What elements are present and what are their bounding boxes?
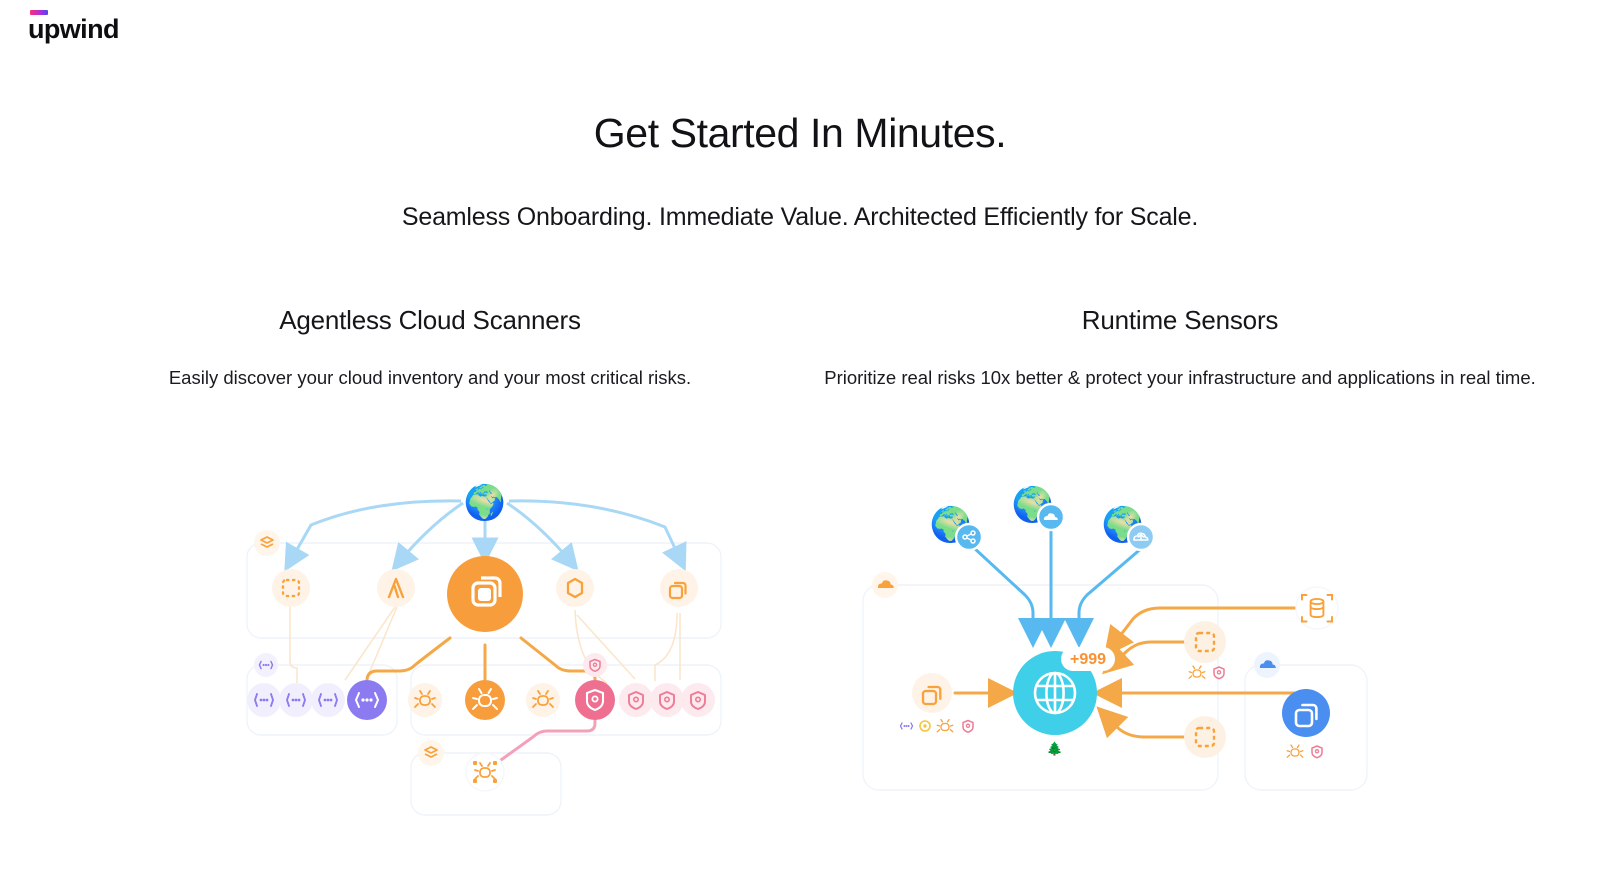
hub-badge-count: +999 — [1061, 647, 1115, 671]
hub-badge-label: +999 — [1070, 651, 1106, 668]
node-copy-left[interactable] — [912, 673, 952, 713]
globe-source-node[interactable]: 🌍 — [464, 483, 506, 522]
column-description: Prioritize real risks 10x better & prote… — [824, 365, 1536, 392]
badge-shield-panel — [583, 653, 607, 677]
node-shield-active[interactable] — [575, 680, 615, 720]
page-root: upwind Get Started In Minutes. Seamless … — [0, 0, 1600, 895]
node-cluster-1[interactable] — [247, 683, 281, 717]
hub-sub-tree-icon: 🌲 — [1047, 741, 1063, 756]
badge-layers-scan — [418, 740, 444, 766]
page-subtitle: Seamless Onboarding. Immediate Value. Ar… — [0, 203, 1600, 232]
diagrams-section: 🌍 — [0, 465, 1600, 825]
globe-node-share[interactable]: 🌍 — [930, 505, 982, 550]
svg-text:🌲: 🌲 — [1047, 741, 1063, 756]
columns-section: Agentless Cloud Scanners Easily discover… — [0, 305, 1600, 392]
node-hexagon[interactable] — [556, 569, 594, 607]
node-cluster-2[interactable] — [279, 683, 313, 717]
node-bug-active[interactable] — [465, 680, 505, 720]
badge-cloud-orange — [872, 572, 898, 598]
hero-section: Get Started In Minutes. Seamless Onboard… — [0, 110, 1600, 232]
column-title: Runtime Sensors — [1082, 305, 1278, 336]
column-description: Easily discover your cloud inventory and… — [169, 365, 691, 392]
badge-cluster-panel — [254, 653, 278, 677]
column-runtime-sensors: Runtime Sensors Prioritize real risks 10… — [800, 305, 1600, 392]
node-copy-side[interactable] — [1282, 689, 1330, 737]
node-cluster-3[interactable] — [311, 683, 345, 717]
node-lambda[interactable] — [377, 569, 415, 607]
brand-wordmark: upwind — [28, 16, 119, 43]
hub-node-copy[interactable] — [447, 556, 523, 632]
node-shield-2[interactable] — [619, 683, 653, 717]
runtime-sensors-diagram: 🌍 🌍 🌍 — [855, 465, 1375, 825]
badge-layers-compute — [254, 530, 280, 556]
column-title: Agentless Cloud Scanners — [279, 305, 581, 336]
agentless-cloud-scanners-diagram: 🌍 — [225, 465, 745, 825]
node-cluster-active[interactable] — [347, 680, 387, 720]
column-agentless-cloud-scanners: Agentless Cloud Scanners Easily discover… — [0, 305, 800, 392]
svg-text:🌍: 🌍 — [464, 483, 506, 522]
node-database-scan[interactable] — [1296, 587, 1338, 629]
node-copy-top[interactable] — [660, 569, 698, 607]
node-shield-3[interactable] — [650, 683, 684, 717]
node-shield-4[interactable] — [681, 683, 715, 717]
node-container-dashed-bottom[interactable] — [1184, 716, 1226, 758]
page-title: Get Started In Minutes. — [0, 110, 1600, 157]
badge-cloud-blue — [1254, 652, 1280, 678]
globe-node-cloud-upload[interactable]: 🌍 — [1102, 505, 1154, 550]
brand-logo[interactable]: upwind — [28, 10, 119, 43]
node-container-dashed[interactable] — [272, 569, 310, 607]
node-container-dashed-top[interactable] — [1184, 621, 1226, 663]
globe-node-cloud[interactable]: 🌍 — [1012, 485, 1064, 530]
node-bug-1[interactable] — [408, 683, 442, 717]
node-bug-scan[interactable] — [466, 753, 504, 791]
node-bug-3[interactable] — [526, 683, 560, 717]
